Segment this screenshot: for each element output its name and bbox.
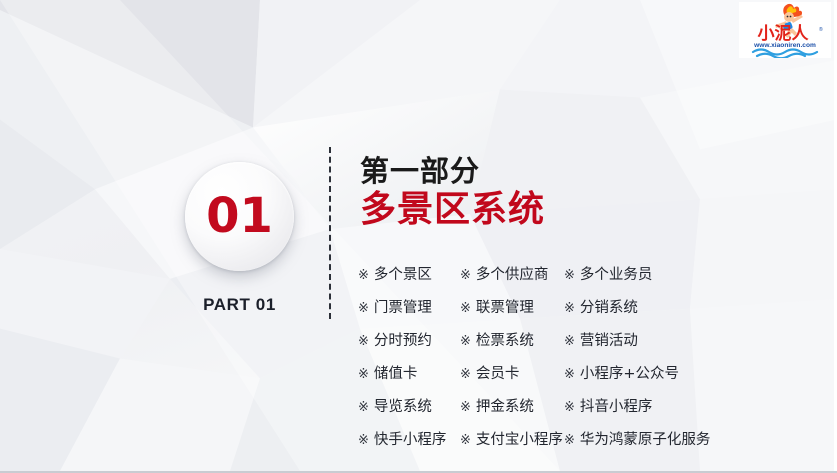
bullet-mark-icon: ※ (358, 400, 369, 415)
feature-label: 小程序+公众号 (580, 362, 679, 383)
feature-label: 多个景区 (374, 263, 432, 284)
bullet-mark-icon: ※ (564, 367, 575, 382)
feature-row: ※ 多个景区 ※ 多个供应商 ※ 多个业务员 (358, 263, 778, 296)
feature-label: 多个供应商 (476, 263, 549, 284)
feature-item: ※ 小程序+公众号 (564, 362, 679, 383)
feature-item: ※ 储值卡 (358, 362, 460, 383)
feature-item: ※ 分时预约 (358, 329, 460, 350)
bullet-mark-icon: ※ (358, 334, 369, 349)
feature-row: ※ 门票管理 ※ 联票管理 ※ 分销系统 (358, 296, 778, 329)
feature-label: 分销系统 (580, 296, 638, 317)
feature-item: ※ 导览系统 (358, 395, 460, 416)
bullet-mark-icon: ※ (460, 334, 471, 349)
part-number-medallion: 01 (185, 162, 294, 271)
feature-list: ※ 多个景区 ※ 多个供应商 ※ 多个业务员 ※ 门票管理 ※ 联票管理 ※ (358, 263, 778, 461)
feature-label: 华为鸿蒙原子化服务 (580, 428, 711, 449)
feature-item: ※ 联票管理 (460, 296, 564, 317)
bullet-mark-icon: ※ (358, 433, 369, 448)
bullet-mark-icon: ※ (460, 268, 471, 283)
logo-artwork: 小泥人 ® www.xiaoniren.com (739, 2, 831, 58)
logo-brand-text: 小泥人 (758, 23, 810, 44)
feature-item: ※ 快手小程序 (358, 428, 460, 449)
feature-label: 押金系统 (476, 395, 534, 416)
feature-item: ※ 多个供应商 (460, 263, 564, 284)
bullet-mark-icon: ※ (358, 268, 369, 283)
slide-heading-block: 第一部分 多景区系统 (360, 155, 820, 231)
bullet-mark-icon: ※ (564, 433, 575, 448)
feature-item: ※ 多个景区 (358, 263, 460, 284)
feature-item: ※ 抖音小程序 (564, 395, 652, 416)
feature-label: 营销活动 (580, 329, 638, 350)
bullet-mark-icon: ※ (564, 268, 575, 283)
part-number-text: 01 (206, 192, 273, 240)
bullet-mark-icon: ※ (358, 301, 369, 316)
brand-logo: 小泥人 ® www.xiaoniren.com (739, 2, 831, 58)
logo-registered-mark: ® (819, 26, 823, 33)
feature-label: 会员卡 (476, 362, 520, 383)
feature-label: 联票管理 (476, 296, 534, 317)
feature-row: ※ 分时预约 ※ 检票系统 ※ 营销活动 (358, 329, 778, 362)
feature-label: 导览系统 (374, 395, 432, 416)
feature-label: 多个业务员 (580, 263, 653, 284)
feature-label: 分时预约 (374, 329, 432, 350)
bullet-mark-icon: ※ (460, 433, 471, 448)
bullet-mark-icon: ※ (358, 367, 369, 382)
dashed-divider (329, 147, 331, 319)
feature-item: ※ 押金系统 (460, 395, 564, 416)
feature-item: ※ 华为鸿蒙原子化服务 (564, 428, 710, 449)
feature-item: ※ 营销活动 (564, 329, 638, 350)
feature-item: ※ 门票管理 (358, 296, 460, 317)
feature-label: 快手小程序 (374, 428, 447, 449)
feature-label: 门票管理 (374, 296, 432, 317)
feature-item: ※ 会员卡 (460, 362, 564, 383)
part-label: PART 01 (185, 295, 294, 315)
feature-label: 储值卡 (374, 362, 418, 383)
logo-url-text: www.xiaoniren.com (753, 42, 816, 49)
feature-row: ※ 储值卡 ※ 会员卡 ※ 小程序+公众号 (358, 362, 778, 395)
feature-item: ※ 检票系统 (460, 329, 564, 350)
slide-title-primary: 第一部分 (360, 155, 820, 187)
bullet-mark-icon: ※ (564, 400, 575, 415)
bullet-mark-icon: ※ (564, 301, 575, 316)
feature-item: ※ 多个业务员 (564, 263, 652, 284)
bullet-mark-icon: ※ (564, 334, 575, 349)
slide-title-secondary: 多景区系统 (360, 189, 820, 230)
bullet-mark-icon: ※ (460, 400, 471, 415)
feature-row: ※ 快手小程序 ※ 支付宝小程序 ※ 华为鸿蒙原子化服务 (358, 428, 778, 461)
feature-label: 支付宝小程序 (476, 428, 563, 449)
feature-label: 抖音小程序 (580, 395, 653, 416)
feature-item: ※ 支付宝小程序 (460, 428, 564, 449)
feature-row: ※ 导览系统 ※ 押金系统 ※ 抖音小程序 (358, 395, 778, 428)
presentation-slide: 小泥人 ® www.xiaoniren.com 01 PART 01 第一部分 … (0, 0, 837, 473)
bullet-mark-icon: ※ (460, 367, 471, 382)
bullet-mark-icon: ※ (460, 301, 471, 316)
feature-label: 检票系统 (476, 329, 534, 350)
feature-item: ※ 分销系统 (564, 296, 638, 317)
